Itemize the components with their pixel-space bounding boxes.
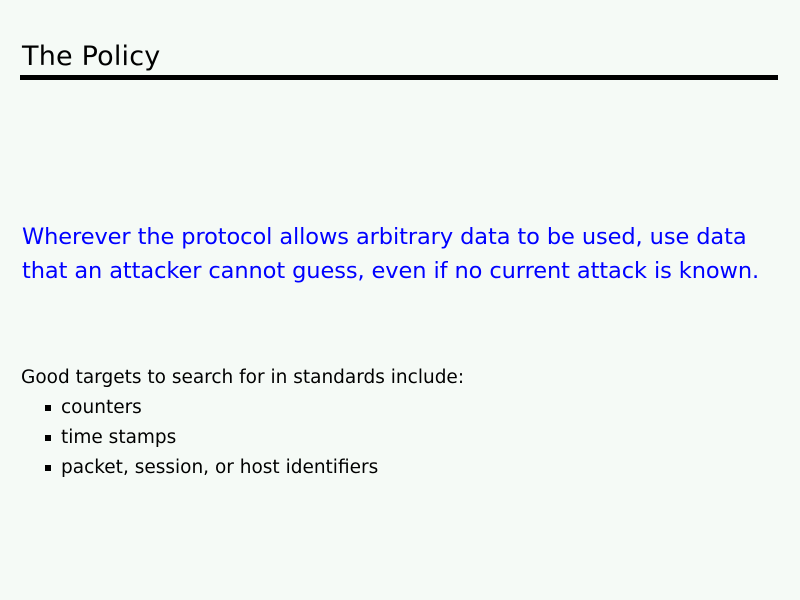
list-item: packet, session, or host identifiers: [45, 453, 378, 483]
square-bullet-icon: [45, 435, 51, 441]
policy-statement-line-2: that an attacker cannot guess, even if n…: [22, 254, 778, 288]
list-item-label: time stamps: [61, 423, 176, 453]
targets-lead-in-text: Good targets to search for in standards …: [21, 365, 464, 391]
square-bullet-icon: [45, 405, 51, 411]
policy-statement-line-1: Wherever the protocol allows arbitrary d…: [22, 220, 778, 254]
title-divider-rule: [20, 75, 778, 80]
page-title: The Policy: [22, 40, 160, 74]
targets-bullet-list: counters time stamps packet, session, or…: [45, 393, 378, 483]
square-bullet-icon: [45, 465, 51, 471]
list-item: counters: [45, 393, 378, 423]
list-item: time stamps: [45, 423, 378, 453]
slide-canvas: The Policy Wherever the protocol allows …: [0, 0, 800, 600]
list-item-label: counters: [61, 393, 142, 423]
list-item-label: packet, session, or host identifiers: [61, 453, 378, 483]
policy-statement: Wherever the protocol allows arbitrary d…: [22, 220, 778, 288]
